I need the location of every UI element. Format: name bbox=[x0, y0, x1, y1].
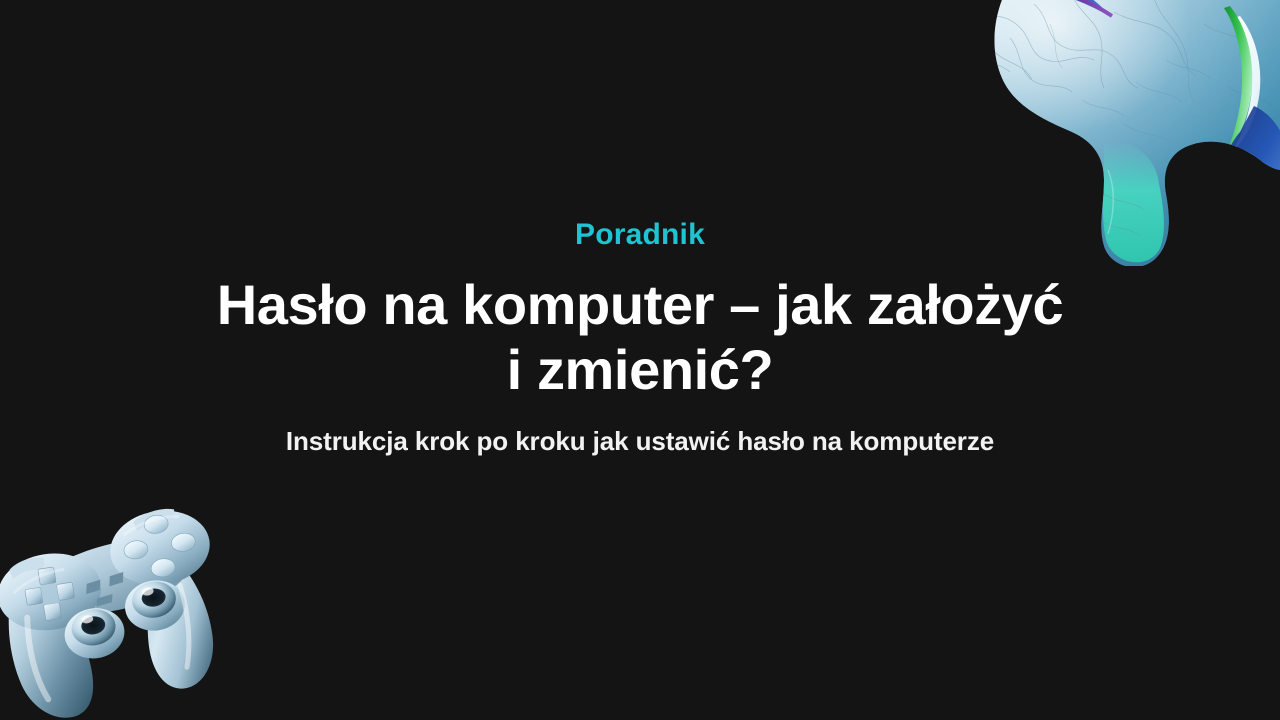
eyebrow-label: Poradnik bbox=[575, 218, 705, 251]
headline-line-1: Hasło na komputer – jak założyć bbox=[217, 273, 1064, 336]
slide-canvas: Poradnik Hasło na komputer – jak założyć… bbox=[0, 0, 1280, 720]
subtitle-text: Instrukcja krok po kroku jak ustawić has… bbox=[286, 425, 994, 458]
page-title: Hasło na komputer – jak założyć i zmieni… bbox=[217, 273, 1064, 403]
headline-line-2: i zmienić? bbox=[507, 338, 774, 401]
slide-text-block: Poradnik Hasło na komputer – jak założyć… bbox=[0, 0, 1280, 720]
